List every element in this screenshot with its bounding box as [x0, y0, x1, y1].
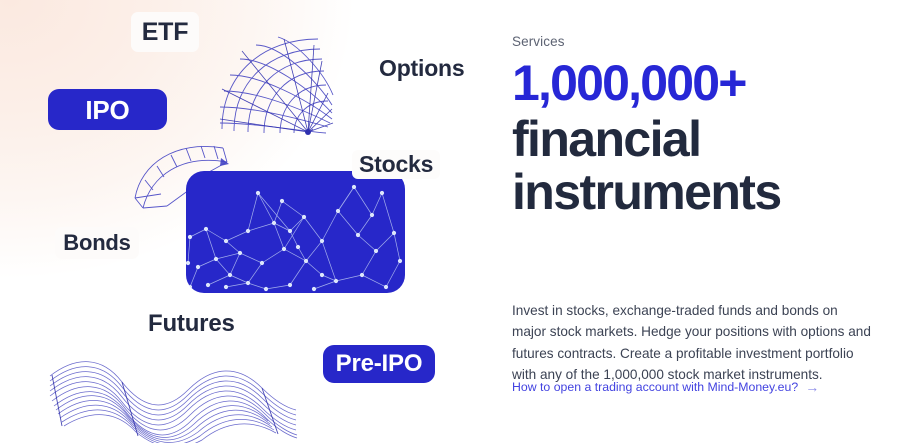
tag-futures: Futures: [148, 312, 235, 336]
body-paragraph: Invest in stocks, exchange-traded funds …: [512, 300, 874, 386]
left-visual-panel: ETF IPO Options Stocks Bonds Futures Pre…: [0, 0, 500, 443]
tag-bonds: Bonds: [55, 227, 139, 259]
page-title: 1,000,000+ financial instruments: [512, 58, 882, 219]
headline-line-1: financial: [512, 113, 882, 166]
tag-ipo: IPO: [48, 89, 167, 130]
tag-etf: ETF: [131, 12, 199, 52]
arrow-right-icon: →: [805, 380, 819, 394]
tag-pre-ipo: Pre-IPO: [323, 345, 435, 383]
headline-line-2: instruments: [512, 166, 882, 219]
eyebrow-label: Services: [512, 34, 565, 49]
globe-wireframe-icon: [214, 33, 334, 143]
cta-link[interactable]: How to open a trading account with Mind-…: [512, 380, 819, 394]
wave-lines-icon: [48, 348, 298, 443]
tag-stocks: Stocks: [352, 150, 440, 179]
cta-link-label: How to open a trading account with Mind-…: [512, 380, 798, 394]
network-graph-card: [186, 171, 405, 293]
headline-text: financial instruments: [512, 113, 882, 219]
headline-number: 1,000,000+: [512, 58, 882, 109]
tag-options: Options: [379, 57, 464, 80]
hero-section: ETF IPO Options Stocks Bonds Futures Pre…: [0, 0, 900, 443]
right-content-panel: Services 1,000,000+ financial instrument…: [512, 0, 900, 443]
